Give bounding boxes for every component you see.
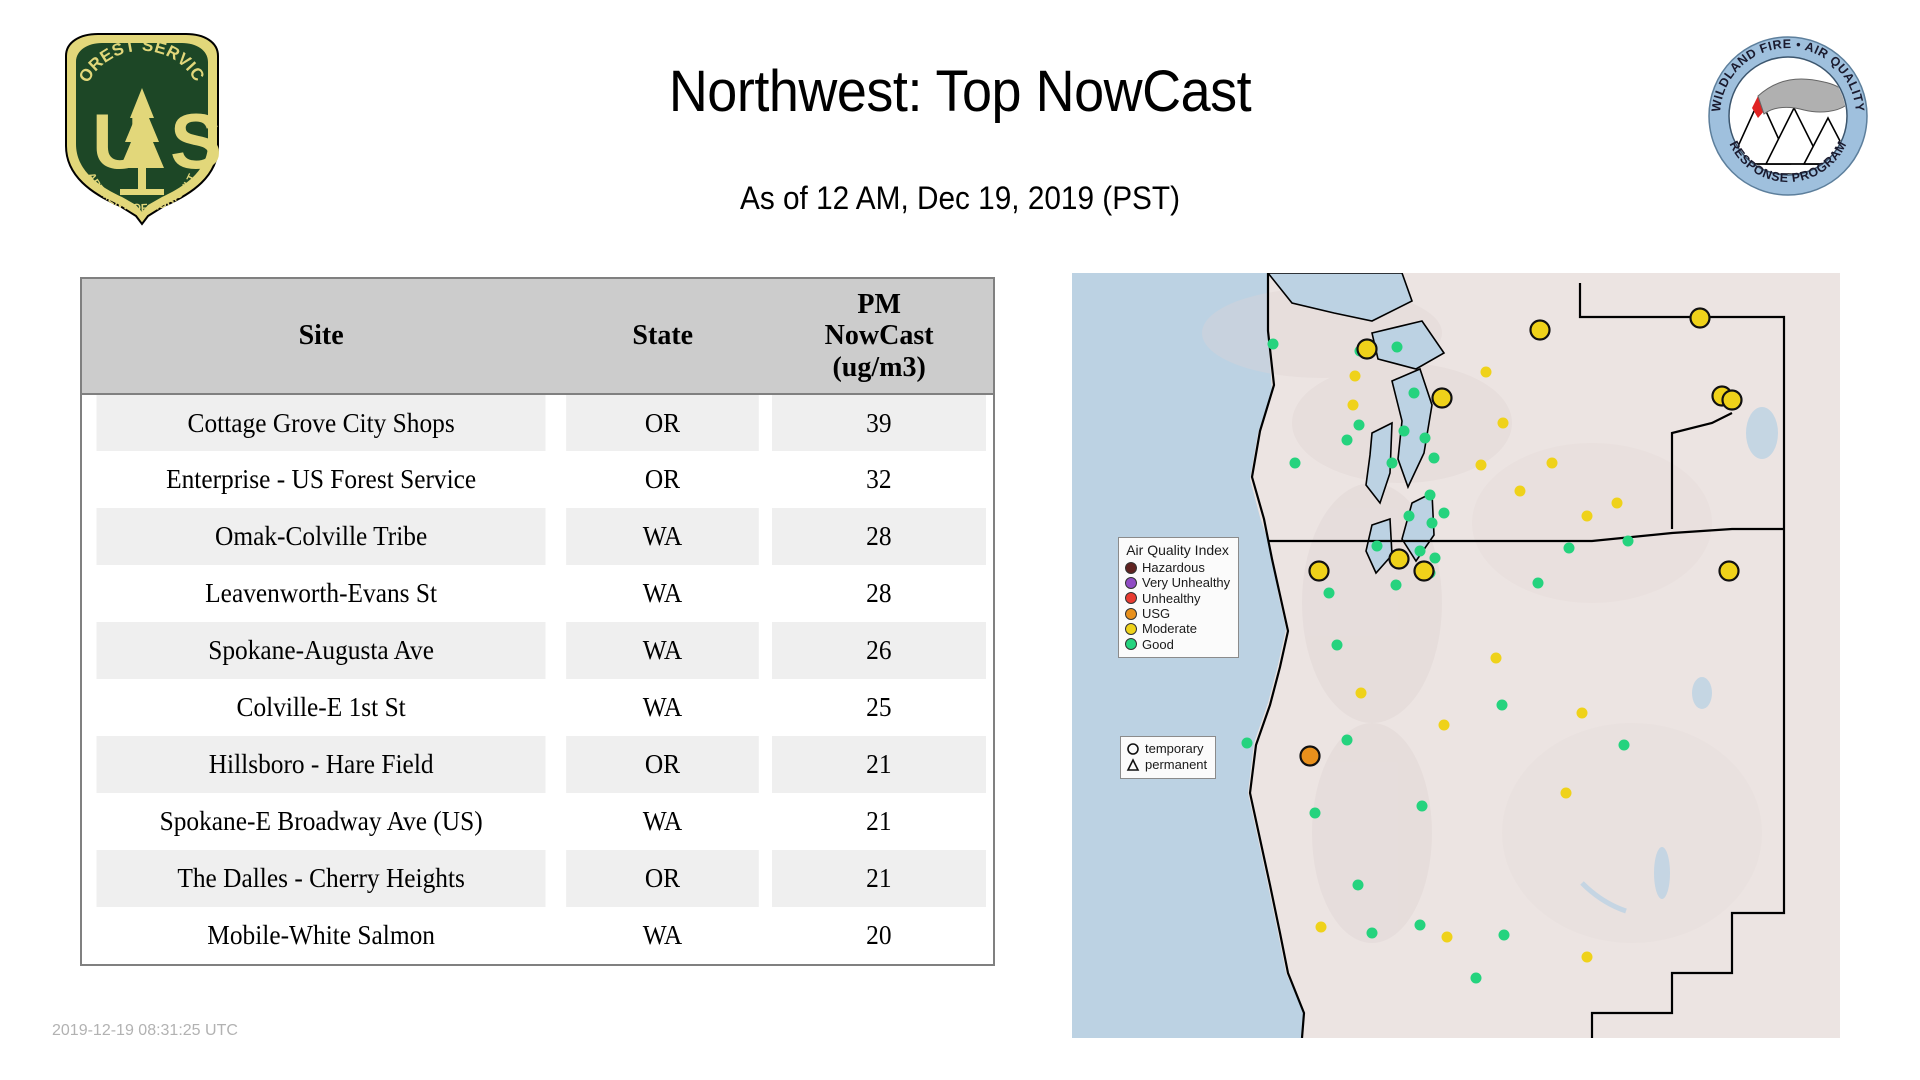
monitor-marker[interactable] — [1342, 435, 1353, 446]
temporary-circle-icon — [1126, 742, 1140, 756]
permanent-triangle-icon — [1126, 758, 1140, 772]
monitor-marker[interactable] — [1367, 928, 1378, 939]
monitor-marker[interactable] — [1350, 371, 1361, 382]
monitor-marker[interactable] — [1533, 578, 1544, 589]
cell-state: WA — [566, 565, 759, 622]
monitor-marker[interactable] — [1439, 508, 1450, 519]
cell-pm: 20 — [772, 907, 986, 964]
monitor-type-item: permanent — [1126, 757, 1207, 773]
monitor-marker[interactable] — [1399, 426, 1410, 437]
monitor-type-label: permanent — [1145, 757, 1207, 773]
monitor-marker[interactable] — [1425, 490, 1436, 501]
monitor-marker[interactable] — [1353, 880, 1364, 891]
monitor-marker[interactable] — [1499, 930, 1510, 941]
cell-state: WA — [566, 508, 759, 565]
monitor-marker[interactable] — [1387, 458, 1398, 469]
monitor-marker[interactable] — [1564, 543, 1575, 554]
cell-site: Colville-E 1st St — [96, 679, 546, 736]
monitor-marker[interactable] — [1442, 932, 1453, 943]
monitor-marker[interactable] — [1404, 511, 1415, 522]
monitor-marker[interactable] — [1409, 388, 1420, 399]
aqi-legend-item: Moderate — [1125, 621, 1230, 636]
aqi-swatch-icon — [1125, 623, 1137, 635]
monitor-marker[interactable] — [1429, 453, 1440, 464]
monitor-marker[interactable] — [1577, 708, 1588, 719]
monitor-marker[interactable] — [1358, 340, 1377, 359]
northwest-monitor-map[interactable]: Air Quality Index HazardousVery Unhealth… — [1072, 273, 1840, 1038]
table-row[interactable]: Leavenworth-Evans StWA28 — [82, 565, 993, 622]
monitor-marker[interactable] — [1332, 640, 1343, 651]
monitor-marker[interactable] — [1561, 788, 1572, 799]
table-row[interactable]: The Dalles - Cherry HeightsOR21 — [82, 850, 993, 907]
monitor-marker[interactable] — [1310, 562, 1329, 581]
monitor-marker[interactable] — [1720, 562, 1739, 581]
monitor-marker[interactable] — [1433, 389, 1452, 408]
table-row[interactable]: Hillsboro - Hare FieldOR21 — [82, 736, 993, 793]
table-row[interactable]: Spokane-E Broadway Ave (US)WA21 — [82, 793, 993, 850]
monitor-marker[interactable] — [1415, 920, 1426, 931]
cell-state: OR — [566, 736, 759, 793]
aqi-legend-item: Hazardous — [1125, 560, 1230, 575]
monitor-marker[interactable] — [1372, 541, 1383, 552]
cell-pm: 28 — [772, 565, 986, 622]
monitor-marker[interactable] — [1316, 922, 1327, 933]
monitor-marker[interactable] — [1417, 801, 1428, 812]
aqi-legend-item: Unhealthy — [1125, 591, 1230, 606]
monitor-marker[interactable] — [1498, 418, 1509, 429]
cell-site: Spokane-Augusta Ave — [96, 622, 546, 679]
cell-state: OR — [566, 394, 759, 451]
aqi-legend-item: USG — [1125, 606, 1230, 621]
cell-site: Spokane-E Broadway Ave (US) — [96, 793, 546, 850]
monitor-marker[interactable] — [1356, 688, 1367, 699]
cell-pm: 21 — [772, 793, 986, 850]
air-quality-index-legend: Air Quality Index HazardousVery Unhealth… — [1118, 537, 1239, 658]
pm-header-line-1: PM — [769, 289, 989, 320]
slide-root: FOREST SERVICE U S DEPARTMENT OF AGRICUL… — [0, 0, 1920, 1080]
aqi-legend-item: Good — [1125, 637, 1230, 652]
cell-state: WA — [566, 793, 759, 850]
monitor-marker[interactable] — [1348, 400, 1359, 411]
monitor-type-label: temporary — [1145, 741, 1204, 757]
monitor-marker[interactable] — [1290, 458, 1301, 469]
monitor-marker[interactable] — [1415, 562, 1434, 581]
cell-site: The Dalles - Cherry Heights — [96, 850, 546, 907]
monitor-marker[interactable] — [1497, 700, 1508, 711]
table-row[interactable]: Omak-Colville TribeWA28 — [82, 508, 993, 565]
monitor-marker[interactable] — [1354, 420, 1365, 431]
monitor-marker[interactable] — [1342, 735, 1353, 746]
table-row[interactable]: Mobile-White SalmonWA20 — [82, 907, 993, 964]
aqi-legend-item: Very Unhealthy — [1125, 575, 1230, 590]
monitor-marker[interactable] — [1310, 808, 1321, 819]
monitor-marker[interactable] — [1301, 747, 1320, 766]
column-header-pm-nowcast: PM NowCast (ug/m3) — [765, 279, 993, 394]
monitor-marker[interactable] — [1391, 580, 1402, 591]
monitor-type-item: temporary — [1126, 741, 1207, 757]
monitor-marker[interactable] — [1623, 536, 1634, 547]
monitor-marker[interactable] — [1427, 518, 1438, 529]
cell-pm: 28 — [772, 508, 986, 565]
page-subtitle: As of 12 AM, Dec 19, 2019 (PST) — [67, 180, 1853, 217]
cell-pm: 21 — [772, 736, 986, 793]
monitor-marker[interactable] — [1612, 498, 1623, 509]
monitor-marker[interactable] — [1390, 550, 1409, 569]
cell-state: WA — [566, 622, 759, 679]
aqi-legend-label: Unhealthy — [1142, 591, 1201, 606]
cell-pm: 39 — [772, 394, 986, 451]
cell-state: OR — [566, 451, 759, 508]
footer-timestamp: 2019-12-19 08:31:25 UTC — [52, 1022, 238, 1040]
cell-site: Leavenworth-Evans St — [96, 565, 546, 622]
aqi-swatch-icon — [1125, 638, 1137, 650]
monitor-marker[interactable] — [1515, 486, 1526, 497]
monitor-marker[interactable] — [1619, 740, 1630, 751]
monitor-marker[interactable] — [1324, 588, 1335, 599]
aqi-legend-label: Moderate — [1142, 621, 1197, 636]
table-row[interactable]: Spokane-Augusta AveWA26 — [82, 622, 993, 679]
monitor-marker[interactable] — [1481, 367, 1492, 378]
cell-pm: 21 — [772, 850, 986, 907]
table-row[interactable]: Cottage Grove City ShopsOR39 — [82, 394, 993, 451]
monitor-marker[interactable] — [1471, 973, 1482, 984]
monitor-marker[interactable] — [1582, 952, 1593, 963]
aqi-legend-label: USG — [1142, 606, 1170, 621]
monitor-marker[interactable] — [1491, 653, 1502, 664]
cell-site: Cottage Grove City Shops — [96, 394, 546, 451]
monitor-marker[interactable] — [1582, 511, 1593, 522]
aqi-swatch-icon — [1125, 608, 1137, 620]
monitor-type-legend: temporarypermanent — [1120, 736, 1216, 779]
table-row[interactable]: Enterprise - US Forest ServiceOR32 — [82, 451, 993, 508]
cell-site: Enterprise - US Forest Service — [96, 451, 546, 508]
cell-state: WA — [566, 907, 759, 964]
monitor-marker[interactable] — [1415, 546, 1426, 557]
aqi-legend-label: Good — [1142, 637, 1174, 652]
aqi-legend-label: Hazardous — [1142, 560, 1205, 575]
cell-site: Mobile-White Salmon — [96, 907, 546, 964]
cell-site: Hillsboro - Hare Field — [96, 736, 546, 793]
cell-pm: 26 — [772, 622, 986, 679]
aqi-swatch-icon — [1125, 562, 1137, 574]
cell-pm: 25 — [772, 679, 986, 736]
monitor-marker[interactable] — [1392, 342, 1403, 353]
monitor-marker[interactable] — [1531, 321, 1550, 340]
column-header-state: State — [560, 279, 765, 394]
monitor-marker[interactable] — [1420, 433, 1431, 444]
monitor-marker[interactable] — [1476, 460, 1487, 471]
monitor-marker[interactable] — [1723, 391, 1742, 410]
aqi-legend-label: Very Unhealthy — [1142, 575, 1230, 590]
pm-header-line-3: (ug/m3) — [769, 352, 989, 383]
table-header-row: Site State PM NowCast (ug/m3) — [82, 279, 993, 394]
aqi-swatch-icon — [1125, 592, 1137, 604]
cell-pm: 32 — [772, 451, 986, 508]
monitor-marker[interactable] — [1547, 458, 1558, 469]
aqi-legend-title: Air Quality Index — [1125, 542, 1230, 558]
pm-header-line-2: NowCast — [769, 320, 989, 351]
column-header-site: Site — [82, 279, 560, 394]
top-nowcast-table: Site State PM NowCast (ug/m3) Cottage Gr… — [80, 277, 995, 966]
monitor-marker[interactable] — [1691, 309, 1710, 328]
monitor-marker[interactable] — [1242, 738, 1253, 749]
cell-site: Omak-Colville Tribe — [96, 508, 546, 565]
page-title: Northwest: Top NowCast — [67, 58, 1853, 125]
monitor-marker[interactable] — [1430, 553, 1441, 564]
cell-state: OR — [566, 850, 759, 907]
monitor-marker[interactable] — [1268, 339, 1279, 350]
table-row[interactable]: Colville-E 1st StWA25 — [82, 679, 993, 736]
aqi-swatch-icon — [1125, 577, 1137, 589]
monitor-marker[interactable] — [1439, 720, 1450, 731]
cell-state: WA — [566, 679, 759, 736]
